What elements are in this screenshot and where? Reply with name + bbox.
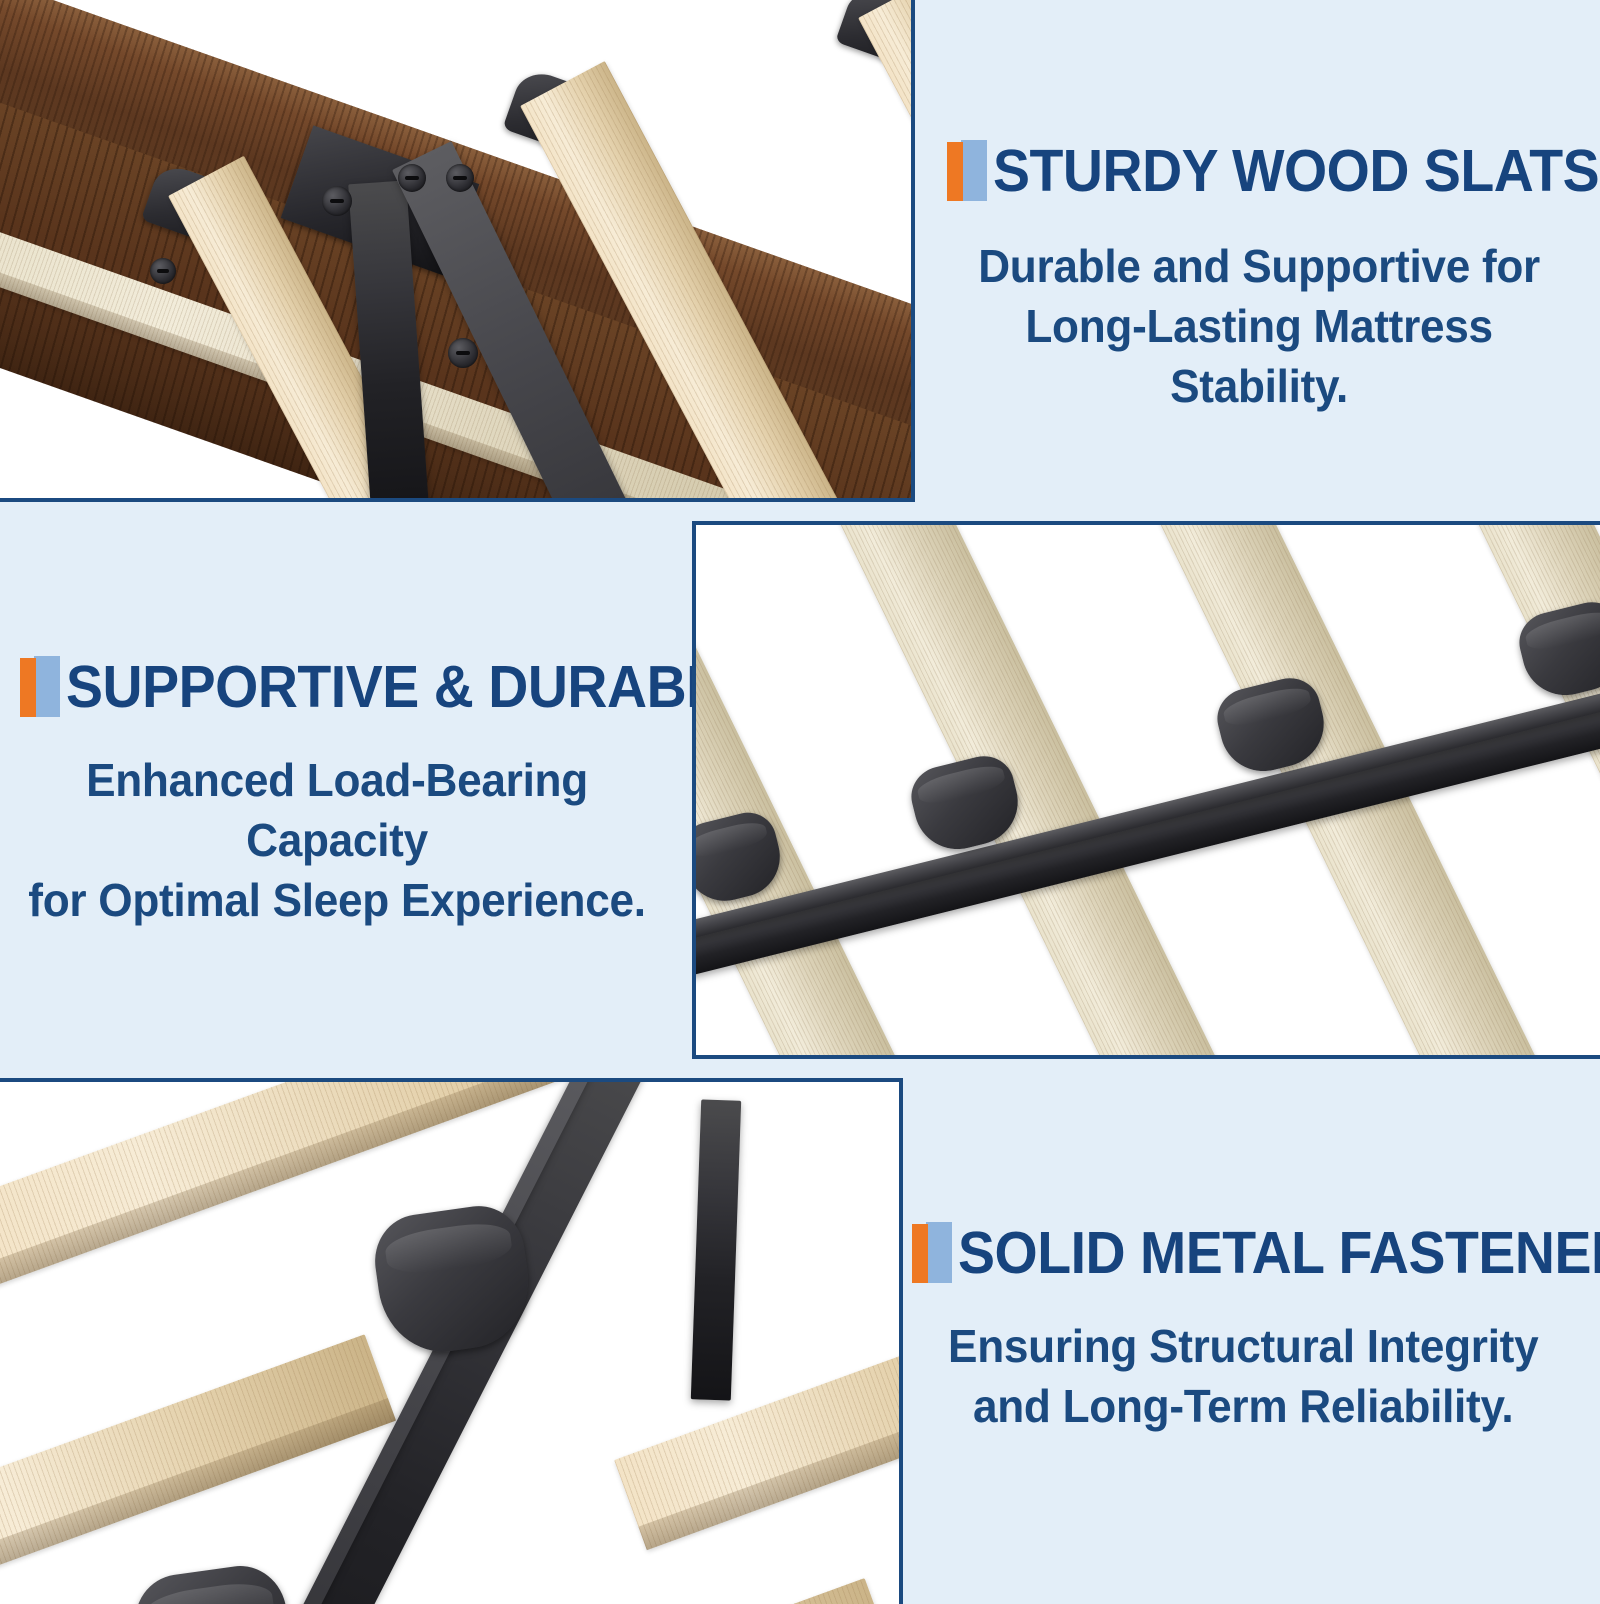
infographic-stage: STURDY WOOD SLATS Durable and Supportive… — [0, 0, 1600, 1600]
support-leg — [691, 1099, 741, 1400]
feature-subtitle: Enhanced Load-Bearing Capacity for Optim… — [15, 751, 658, 930]
feature-image-solid-metal-fasteners — [0, 1078, 903, 1604]
feature-heading: SUPPORTIVE & DURABLE — [66, 656, 756, 717]
accent-marker-icon — [20, 656, 60, 717]
feature-subtitle-line: Ensuring Structural Integrity — [912, 1317, 1574, 1377]
feature-text-solid-metal-fasteners: SOLID METAL FASTENERS Ensuring Structura… — [898, 1222, 1598, 1437]
bracket-screw-4 — [448, 338, 478, 368]
feature-subtitle: Durable and Supportive for Long-Lasting … — [938, 237, 1583, 416]
feature-image-sturdy-wood-slats — [0, 0, 915, 502]
rail-screw-left — [150, 258, 176, 284]
wood-slat-right — [614, 1303, 903, 1551]
feature-text-sturdy-wood-slats: STURDY WOOD SLATS Durable and Supportive… — [925, 140, 1597, 416]
feature-subtitle-line: Enhanced Load-Bearing Capacity — [15, 751, 658, 871]
feature-subtitle-line: for Optimal Sleep Experience. — [15, 871, 658, 931]
scene-bed-frame-corner — [0, 0, 911, 498]
feature-heading: SOLID METAL FASTENERS — [958, 1222, 1600, 1283]
bracket-screw-2 — [398, 164, 426, 192]
accent-marker-icon — [947, 140, 987, 201]
accent-marker-icon — [912, 1222, 952, 1283]
bracket-screw-3 — [446, 164, 474, 192]
heading-row-solid-metal-fasteners: SOLID METAL FASTENERS — [898, 1222, 1598, 1283]
scene-metal-fasteners — [0, 1082, 899, 1604]
feature-subtitle: Ensuring Structural Integrity and Long-T… — [912, 1317, 1584, 1437]
metal-fastener-lower — [129, 1560, 299, 1604]
feature-image-supportive-and-durable — [692, 521, 1600, 1059]
metal-fastener-upper — [369, 1200, 537, 1360]
scene-slats-with-center-bar — [696, 525, 1600, 1055]
heading-row-sturdy-wood-slats: STURDY WOOD SLATS — [925, 140, 1597, 201]
feature-text-supportive-and-durable: SUPPORTIVE & DURABLE Enhanced Load-Beari… — [2, 656, 672, 930]
heading-row-supportive-and-durable: SUPPORTIVE & DURABLE — [2, 656, 672, 717]
feature-subtitle-line: and Long-Term Reliability. — [912, 1377, 1574, 1437]
feature-subtitle-line: Long-Lasting Mattress Stability. — [938, 297, 1579, 417]
feature-subtitle-line: Durable and Supportive for — [938, 237, 1579, 297]
bracket-screw-1 — [322, 186, 352, 216]
feature-heading: STURDY WOOD SLATS — [993, 140, 1599, 201]
